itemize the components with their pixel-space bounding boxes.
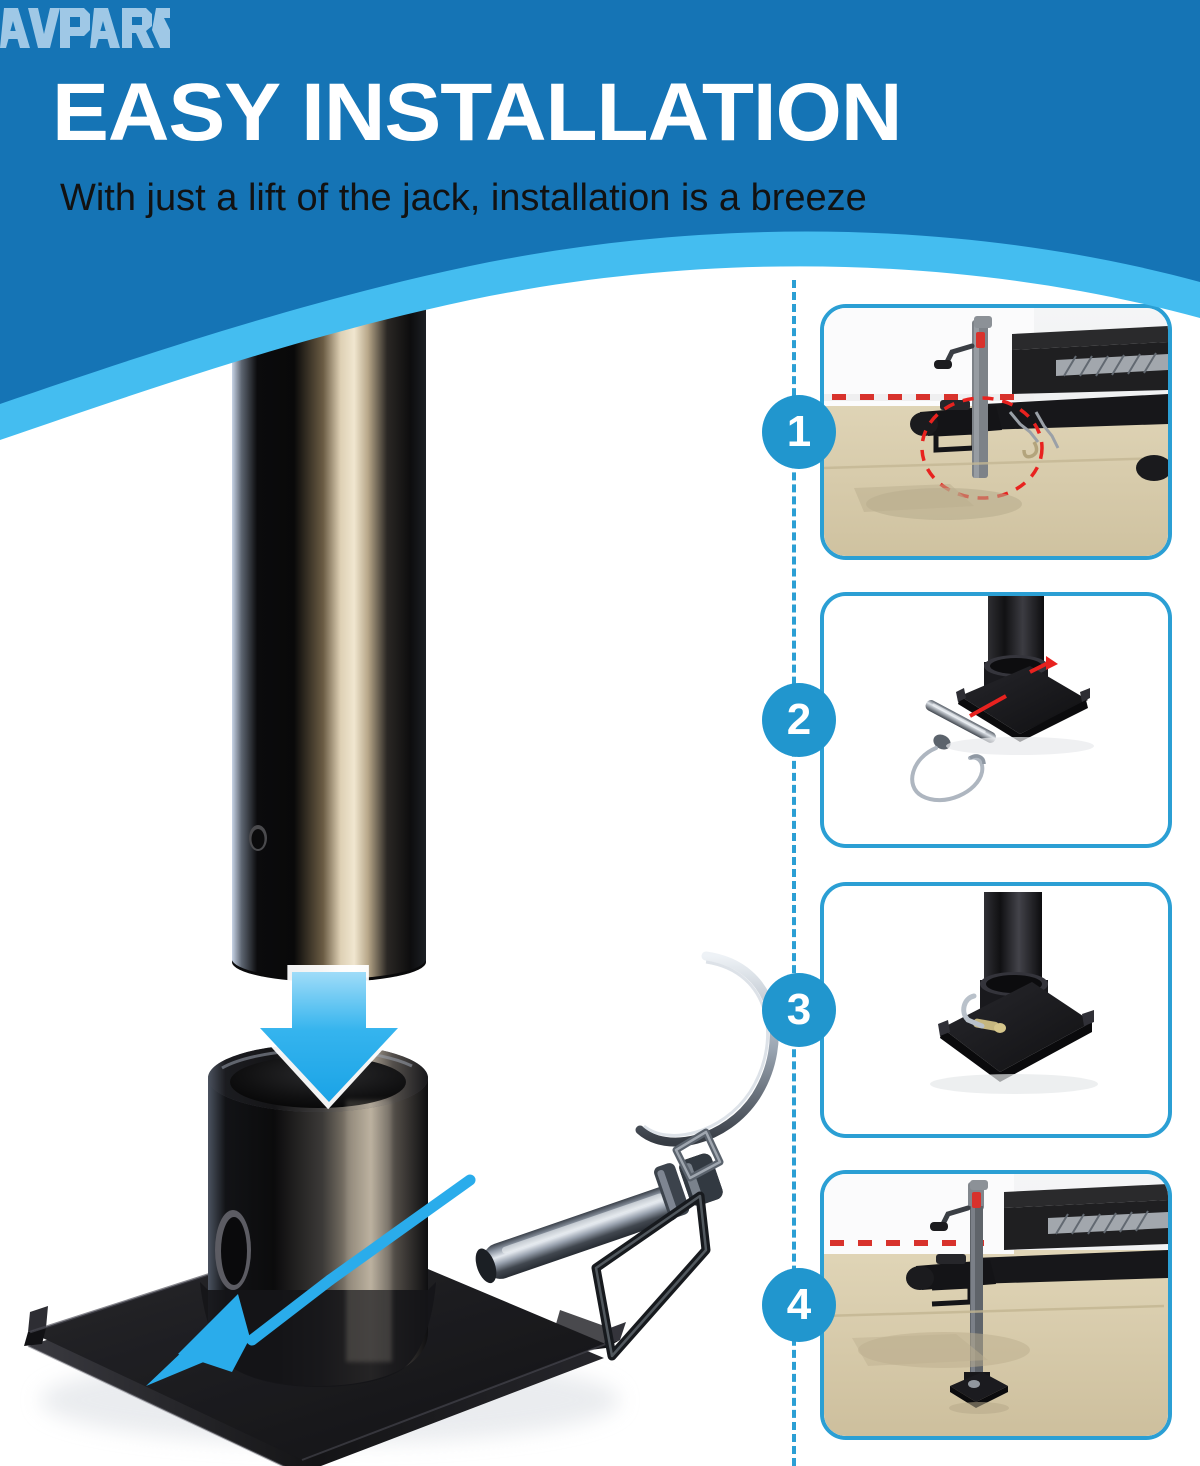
hero-render	[0, 250, 790, 1466]
step-4-badge: 4	[762, 1268, 836, 1342]
foot-plate-pin-secured	[824, 886, 1168, 1134]
jack-tube	[232, 250, 426, 982]
step-2[interactable]: 2	[820, 592, 1172, 848]
step-1[interactable]: 1	[820, 304, 1172, 560]
product-illustration	[0, 250, 790, 1466]
step-4-frame	[820, 1170, 1172, 1440]
step-3-photo	[824, 886, 1168, 1134]
trailer-jack-on-foot-plate	[824, 1174, 1168, 1436]
step-2-photo	[824, 596, 1168, 844]
brand-logo	[0, 0, 170, 58]
step-4[interactable]: 4	[820, 1170, 1172, 1440]
page-subtitle: With just a lift of the jack, installati…	[60, 176, 867, 220]
step-1-frame	[820, 304, 1172, 560]
step-2-frame	[820, 592, 1172, 848]
step-1-badge: 1	[762, 395, 836, 469]
page-title: EASY INSTALLATION	[52, 72, 901, 154]
step-1-photo	[824, 308, 1168, 556]
hitch-pin	[472, 956, 775, 1356]
step-3-frame	[820, 882, 1172, 1138]
trailer-hitch-jack-raised	[824, 308, 1168, 556]
step-3-badge: 3	[762, 973, 836, 1047]
foot-plate-pin-insert	[824, 596, 1168, 844]
installation-steps: 1	[780, 280, 1200, 1466]
pin-lanyard	[640, 956, 774, 1142]
step-2-badge: 2	[762, 683, 836, 757]
step-4-photo	[824, 1174, 1168, 1436]
step-3[interactable]: 3	[820, 882, 1172, 1138]
